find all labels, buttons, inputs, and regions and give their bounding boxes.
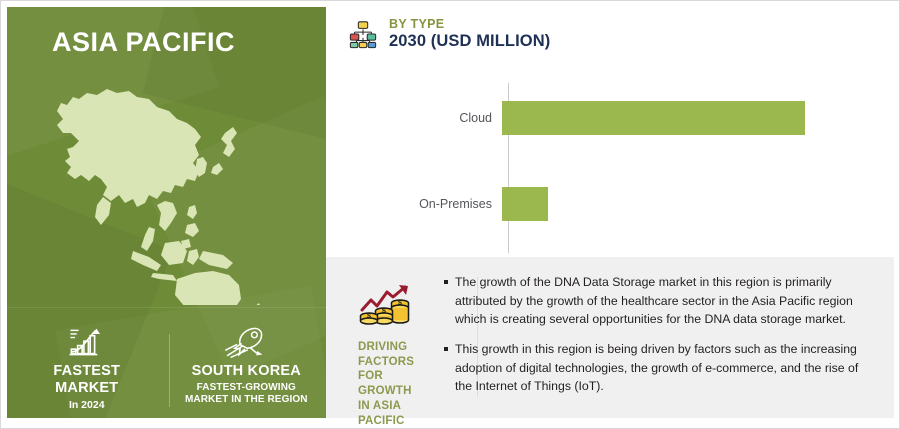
stat-divider: [169, 334, 170, 407]
infographic-card: ASIA PACIFIC: [0, 0, 900, 429]
driving-factors-panel: $ $ $ DRIVING FACTORS FOR GROWTH IN ASIA…: [326, 257, 894, 418]
chart-bar-row: On-Premises: [326, 187, 894, 221]
bar-track: [502, 101, 894, 135]
bar-track: [502, 187, 894, 221]
stat-fastest-line1: FASTEST: [7, 363, 167, 380]
stat-fastest-market: FASTEST MARKET In 2024: [7, 313, 167, 411]
list-item: This growth in this region is being driv…: [444, 340, 860, 396]
driving-factors-caption: DRIVING FACTORS FOR GROWTH IN ASIA PACIF…: [358, 340, 416, 428]
stat-fastest-line2: MARKET: [7, 380, 167, 397]
bar-label-on-premises: On-Premises: [326, 197, 502, 211]
list-item: The growth of the DNA Data Storage marke…: [444, 273, 860, 329]
money-growth-icon: $ $ $: [358, 283, 416, 333]
chart-title: 2030 (USD MILLION): [389, 32, 550, 50]
rocket-icon: [167, 325, 327, 359]
region-panel: ASIA PACIFIC: [7, 7, 326, 418]
bar-on-premises[interactable]: [502, 187, 548, 221]
bar-label-cloud: Cloud: [326, 111, 502, 125]
chart-kicker: BY TYPE: [389, 17, 550, 31]
stat-korea-title: SOUTH KOREA: [167, 363, 327, 380]
stat-korea-subtitle: FASTEST-GROWING MARKET IN THE REGION: [167, 382, 327, 406]
stats-row: FASTEST MARKET In 2024: [7, 313, 326, 418]
panel-divider: [7, 307, 326, 308]
chart-bar-row: Cloud: [326, 101, 894, 135]
driving-factors-bullets: The growth of the DNA Data Storage marke…: [426, 257, 894, 418]
bar-cloud[interactable]: [502, 101, 805, 135]
bar-chart: Cloud On-Premises: [326, 79, 894, 257]
driving-factors-caption-block: $ $ $ DRIVING FACTORS FOR GROWTH IN ASIA…: [326, 257, 426, 418]
svg-text:$: $: [367, 313, 371, 320]
chart-header: BY TYPE 2030 (USD MILLION): [348, 17, 550, 50]
stat-fastest-note: In 2024: [7, 399, 167, 411]
asia-pacific-map: [37, 75, 307, 305]
page-title: ASIA PACIFIC: [52, 27, 235, 58]
stat-south-korea: SOUTH KOREA FASTEST-GROWING MARKET IN TH…: [167, 313, 327, 406]
org-chart-icon: [348, 19, 378, 49]
svg-text:$: $: [382, 308, 386, 315]
chart-panel: BY TYPE 2030 (USD MILLION) Cloud On-Prem…: [326, 7, 894, 418]
growth-bar-chart-icon: [7, 325, 167, 359]
svg-text:$: $: [398, 300, 402, 307]
